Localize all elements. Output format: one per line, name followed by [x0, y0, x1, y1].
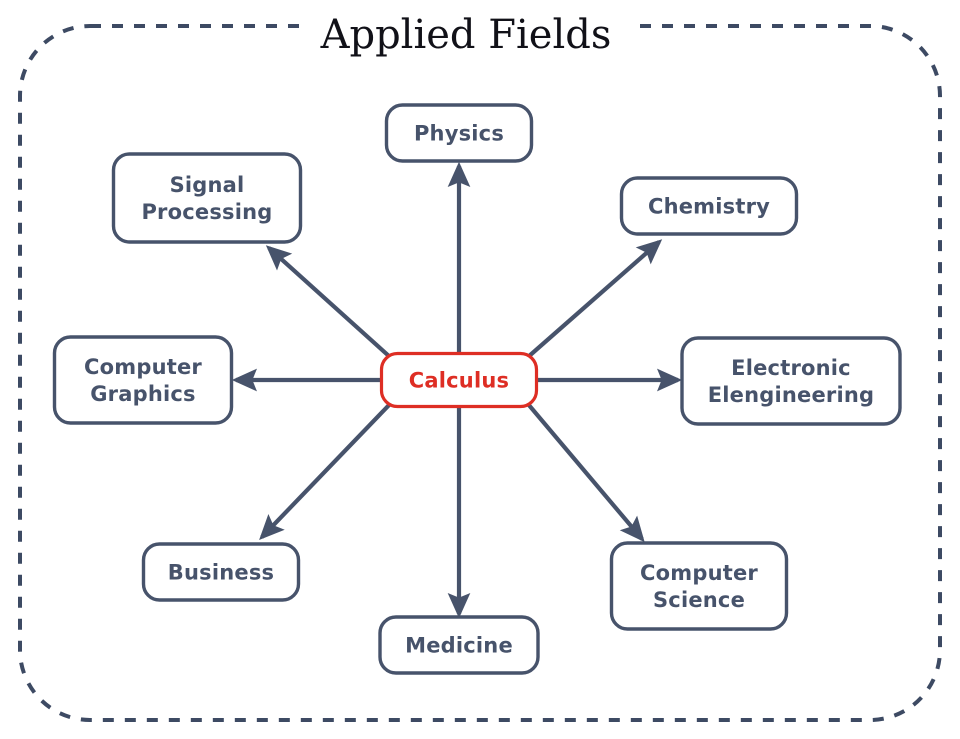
node-box [612, 543, 787, 629]
arrow-calculus-to-computer-science [528, 404, 642, 539]
applied-fields-diagram: Applied Fields PhysicsSignalProcessingCh… [0, 0, 960, 739]
node-label: Chemistry [648, 195, 770, 219]
node-label: Graphics [90, 382, 196, 406]
node-label: Processing [141, 200, 272, 224]
node-calculus[interactable]: Calculus [382, 354, 537, 407]
node-label: Signal [170, 173, 245, 197]
node-physics[interactable]: Physics [387, 105, 532, 161]
node-label: Computer [640, 561, 758, 585]
node-label: Calculus [409, 369, 509, 393]
node-label: Elengineering [708, 383, 875, 407]
node-business[interactable]: Business [144, 544, 299, 600]
node-computer-science[interactable]: ComputerScience [612, 543, 787, 629]
arrow-calculus-to-signal-processing [269, 248, 390, 357]
node-box [682, 338, 900, 424]
node-label: Science [653, 588, 745, 612]
arrow-calculus-to-chemistry [528, 242, 659, 357]
node-layer: PhysicsSignalProcessingChemistryComputer… [55, 105, 901, 673]
node-box [114, 154, 301, 242]
node-box [55, 337, 232, 423]
node-signal-processing[interactable]: SignalProcessing [114, 154, 301, 242]
node-computer-graphics[interactable]: ComputerGraphics [55, 337, 232, 423]
diagram-canvas: Applied Fields PhysicsSignalProcessingCh… [0, 0, 960, 739]
node-label: Business [168, 561, 274, 585]
node-medicine[interactable]: Medicine [380, 617, 538, 673]
node-label: Electronic [731, 356, 851, 380]
arrow-calculus-to-business [262, 404, 390, 537]
node-label: Physics [414, 122, 504, 146]
node-chemistry[interactable]: Chemistry [622, 178, 797, 234]
node-label: Computer [84, 355, 202, 379]
node-label: Medicine [405, 634, 513, 658]
node-electronic-engineering[interactable]: ElectronicElengineering [682, 338, 900, 424]
page-title: Applied Fields [320, 12, 612, 58]
